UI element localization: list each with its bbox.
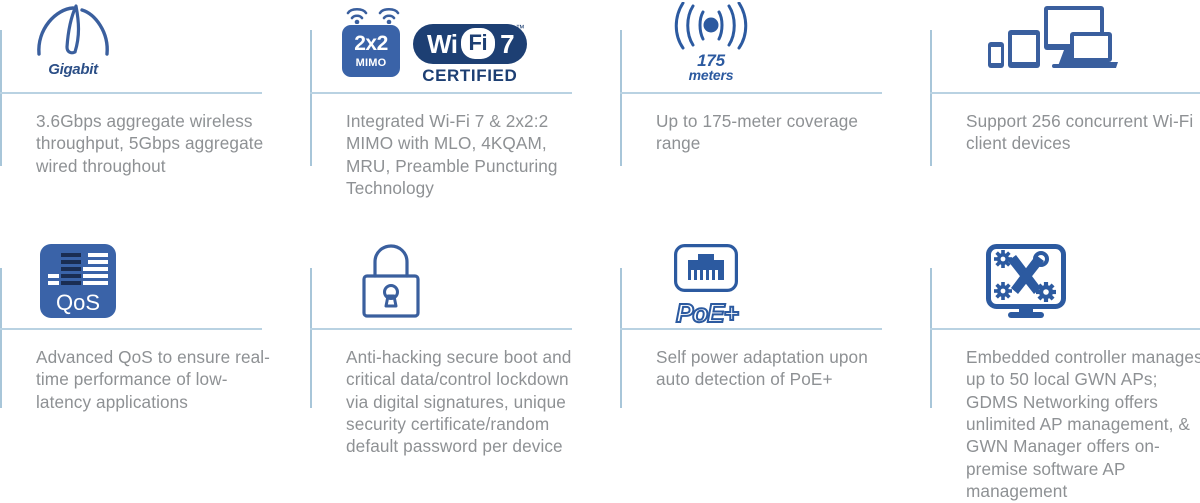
feature-card-security: Anti-hacking secure boot and critical da… [310,240,620,501]
qos-label: QoS [56,290,100,315]
icon-slot: 2x2 MIMO Wi Fi 7 ™ CERTIFIED [328,0,620,88]
accent-bar [930,268,932,408]
gigabit-label: Gigabit [32,61,114,78]
feature-card-qos: QoS Advanced QoS to ensure real-time per… [0,240,310,501]
trademark-icon: ™ [516,23,525,33]
icon-slot: QoS [18,240,310,324]
gigabit-speedometer-icon: Gigabit [32,2,114,78]
feature-card-gigabit: Gigabit 3.6Gbps aggregate wireless throu… [0,0,310,240]
wifi-badge-certified: CERTIFIED [413,66,527,86]
card-divider [930,92,1200,94]
accent-bar [620,268,622,408]
card-divider [0,328,262,330]
icon-slot [948,0,1200,88]
feature-description: 3.6Gbps aggregate wireless throughput, 5… [18,88,280,177]
card-divider [310,92,572,94]
wifi-badge-fi: Fi [461,28,496,59]
feature-card-poe: PoE+ Self power adaptation upon auto det… [620,240,930,501]
icon-slot [948,240,1200,324]
icon-slot [328,240,620,324]
mimo-badge: 2x2 MIMO [342,2,404,77]
padlock-icon [360,244,422,323]
feature-description: Advanced QoS to ensure real-time perform… [18,324,280,413]
qos-equalizer-icon: QoS [40,244,116,323]
feature-card-coverage: 175 meters Up to 175-meter coverage rang… [620,0,930,240]
multiple-devices-icon [986,2,1118,77]
accent-bar [0,30,2,166]
ethernet-poe-icon: PoE+ [674,244,738,329]
card-divider [620,328,882,330]
poe-label: PoE+ [676,298,738,329]
feature-row-1: Gigabit 3.6Gbps aggregate wireless throu… [0,0,1200,240]
feature-description: Up to 175-meter coverage range [638,88,900,155]
feature-card-controller: Embedded controller manages up to 50 loc… [930,240,1200,501]
wifi7-certified-icon: 2x2 MIMO Wi Fi 7 ™ CERTIFIED [342,2,527,86]
wireless-coverage-icon: 175 meters [672,2,750,82]
feature-description: Integrated Wi-Fi 7 & 2x2:2 MIMO with MLO… [328,88,590,199]
icon-slot: Gigabit [18,0,310,88]
embedded-controller-icon [986,244,1066,325]
accent-bar [310,268,312,408]
accent-bar [310,30,312,166]
feature-description: Support 256 concurrent Wi-Fi client devi… [948,88,1200,155]
accent-bar [620,30,622,166]
wifi-badge-number: 7 [500,31,514,57]
feature-description: Embedded controller manages up to 50 loc… [948,324,1200,503]
card-divider [310,328,572,330]
wifi-certified-badge: Wi Fi 7 ™ CERTIFIED [413,24,527,86]
feature-grid: Gigabit 3.6Gbps aggregate wireless throu… [0,0,1200,501]
accent-bar [0,268,2,408]
icon-slot: PoE+ [638,240,930,324]
wifi-arcs-icon [342,2,404,24]
mimo-badge-label: MIMO [356,58,387,69]
coverage-label: 175 meters [672,53,750,82]
accent-bar [930,30,932,166]
feature-card-wifi7: 2x2 MIMO Wi Fi 7 ™ CERTIFIED [310,0,620,240]
icon-slot: 175 meters [638,0,930,88]
feature-row-2: QoS Advanced QoS to ensure real-time per… [0,240,1200,501]
card-divider [0,92,262,94]
feature-description: Anti-hacking secure boot and critical da… [328,324,590,458]
coverage-unit: meters [672,69,750,82]
wifi-badge-wi: Wi [427,31,458,57]
card-divider [620,92,882,94]
feature-description: Self power adaptation upon auto detectio… [638,324,900,391]
card-divider [930,328,1200,330]
mimo-badge-value: 2x2 [354,33,388,54]
feature-card-clients: Support 256 concurrent Wi-Fi client devi… [930,0,1200,240]
